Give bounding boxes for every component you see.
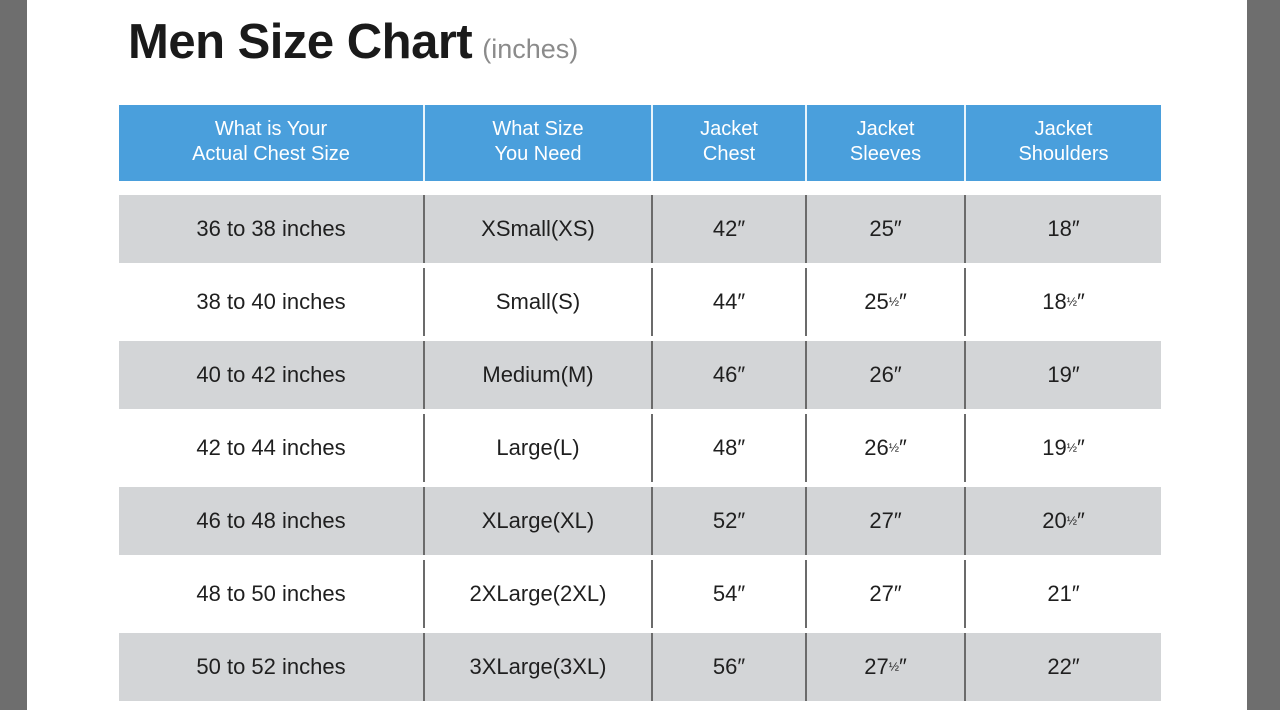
cell-jacket-sleeves: 25″ [807, 195, 966, 263]
cell-jacket-shoulders: 18″ [966, 195, 1161, 263]
half-fraction-glyph: ½ [889, 440, 899, 454]
table-row: 42 to 44 inchesLarge(L)48″26½″19½″ [119, 414, 1161, 482]
half-fraction-glyph: ½ [1067, 440, 1077, 454]
cell-size-you-need: 2XLarge(2XL) [425, 560, 653, 628]
table-row: 36 to 38 inchesXSmall(XS)42″25″18″ [119, 195, 1161, 263]
page-title-unit: (inches) [482, 36, 578, 63]
cell-actual-chest-size: 46 to 48 inches [119, 487, 425, 555]
table-row: 46 to 48 inchesXLarge(XL)52″27″20½″ [119, 487, 1161, 555]
cell-size-you-need: XSmall(XS) [425, 195, 653, 263]
cell-jacket-shoulders: 19″ [966, 341, 1161, 409]
half-fraction-glyph: ½ [889, 659, 899, 673]
half-fraction-glyph: ½ [889, 294, 899, 308]
table-row: 50 to 52 inches3XLarge(3XL)56″27½″22″ [119, 633, 1161, 701]
table-header-row: What is Your Actual Chest Size What Size… [119, 105, 1161, 181]
letterbox-right-bar [1247, 0, 1280, 710]
cell-size-you-need: Small(S) [425, 268, 653, 336]
cell-jacket-sleeves: 27½″ [807, 633, 966, 701]
cell-jacket-chest: 56″ [653, 633, 807, 701]
cell-actual-chest-size: 48 to 50 inches [119, 560, 425, 628]
cell-jacket-chest: 42″ [653, 195, 807, 263]
cell-jacket-sleeves: 26½″ [807, 414, 966, 482]
page-canvas: Men Size Chart (inches) What is Your Act… [27, 0, 1247, 710]
column-header-jacket-shoulders: Jacket Shoulders [966, 105, 1161, 181]
cell-jacket-shoulders: 21″ [966, 560, 1161, 628]
half-fraction-glyph: ½ [1067, 513, 1077, 527]
cell-jacket-sleeves: 27″ [807, 560, 966, 628]
column-header-jacket-chest: Jacket Chest [653, 105, 807, 181]
table-header: What is Your Actual Chest Size What Size… [119, 105, 1161, 181]
page-title: Men Size Chart (inches) [128, 18, 578, 67]
cell-actual-chest-size: 42 to 44 inches [119, 414, 425, 482]
column-header-line2: You Need [429, 142, 647, 167]
cell-jacket-chest: 54″ [653, 560, 807, 628]
column-header-line2: Shoulders [970, 142, 1157, 167]
cell-actual-chest-size: 38 to 40 inches [119, 268, 425, 336]
cell-jacket-chest: 46″ [653, 341, 807, 409]
cell-jacket-shoulders: 22″ [966, 633, 1161, 701]
half-fraction-glyph: ½ [1067, 294, 1077, 308]
table-row: 40 to 42 inchesMedium(M)46″26″19″ [119, 341, 1161, 409]
cell-size-you-need: Large(L) [425, 414, 653, 482]
column-header-line2: Actual Chest Size [123, 142, 419, 167]
column-header-size-you-need: What Size You Need [425, 105, 653, 181]
cell-jacket-chest: 52″ [653, 487, 807, 555]
cell-jacket-sleeves: 27″ [807, 487, 966, 555]
cell-size-you-need: Medium(M) [425, 341, 653, 409]
cell-jacket-sleeves: 25½″ [807, 268, 966, 336]
header-body-gap [119, 181, 1161, 195]
cell-jacket-chest: 44″ [653, 268, 807, 336]
cell-jacket-shoulders: 20½″ [966, 487, 1161, 555]
column-header-actual-chest-size: What is Your Actual Chest Size [119, 105, 425, 181]
cell-actual-chest-size: 36 to 38 inches [119, 195, 425, 263]
column-header-line1: Jacket [811, 117, 960, 142]
cell-actual-chest-size: 50 to 52 inches [119, 633, 425, 701]
cell-jacket-sleeves: 26″ [807, 341, 966, 409]
column-header-line1: Jacket [970, 117, 1157, 142]
cell-jacket-shoulders: 18½″ [966, 268, 1161, 336]
cell-jacket-chest: 48″ [653, 414, 807, 482]
column-header-line2: Chest [657, 142, 801, 167]
table-row: 48 to 50 inches2XLarge(2XL)54″27″21″ [119, 560, 1161, 628]
table-row: 38 to 40 inchesSmall(S)44″25½″18½″ [119, 268, 1161, 336]
column-header-line1: Jacket [657, 117, 801, 142]
page-title-main: Men Size Chart [128, 18, 472, 67]
cell-jacket-shoulders: 19½″ [966, 414, 1161, 482]
column-header-jacket-sleeves: Jacket Sleeves [807, 105, 966, 181]
letterbox-left-bar [0, 0, 27, 710]
cell-size-you-need: XLarge(XL) [425, 487, 653, 555]
column-header-line1: What is Your [123, 117, 419, 142]
column-header-line2: Sleeves [811, 142, 960, 167]
size-chart-table: What is Your Actual Chest Size What Size… [119, 105, 1161, 701]
cell-size-you-need: 3XLarge(3XL) [425, 633, 653, 701]
cell-actual-chest-size: 40 to 42 inches [119, 341, 425, 409]
column-header-line1: What Size [429, 117, 647, 142]
table-body: 36 to 38 inchesXSmall(XS)42″25″18″38 to … [119, 181, 1161, 701]
